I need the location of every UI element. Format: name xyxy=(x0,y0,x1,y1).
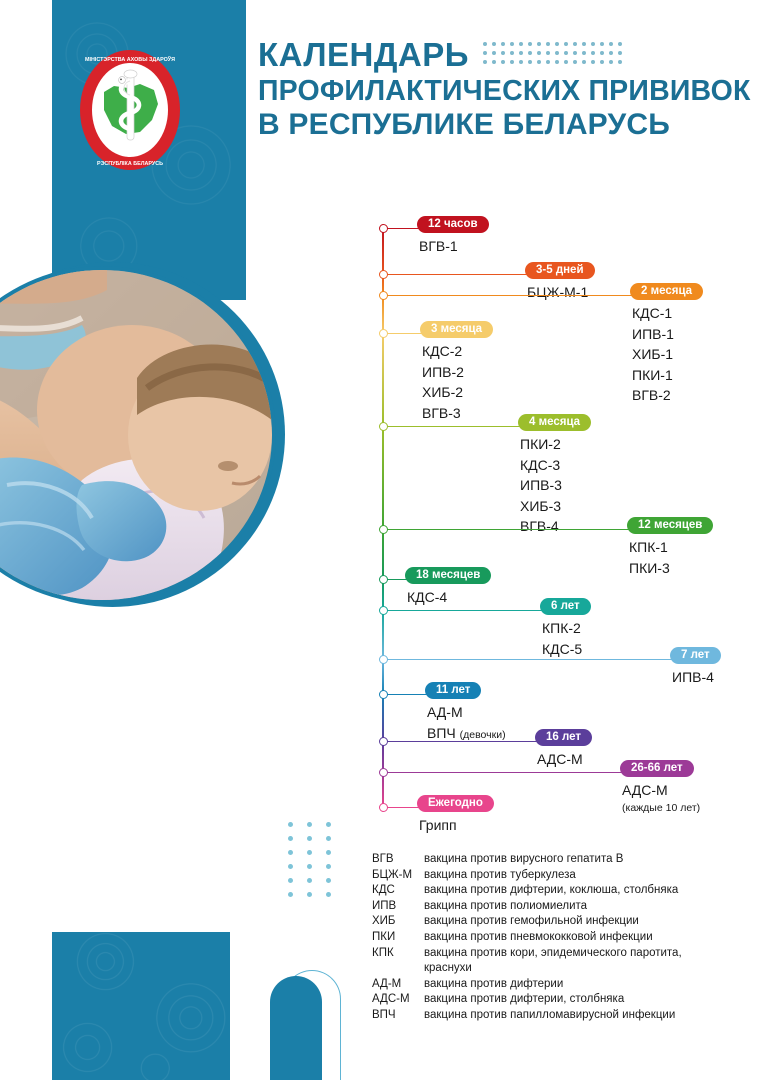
vaccine-item: ВГВ-2 xyxy=(632,385,674,406)
timeline-connector xyxy=(387,807,419,808)
timeline-node[interactable] xyxy=(379,803,388,812)
timeline-node[interactable] xyxy=(379,329,388,338)
age-badge[interactable]: Ежегодно xyxy=(417,795,494,812)
timeline-node[interactable] xyxy=(379,606,388,615)
vaccine-list: АДС-М(каждые 10 лет) xyxy=(622,780,700,815)
timeline-node[interactable] xyxy=(379,737,388,746)
vaccine-list: ПКИ-2КДС-3ИПВ-3ХИБ-3ВГВ-4 xyxy=(520,434,562,537)
vaccine-list: Грипп xyxy=(419,815,457,836)
age-badge[interactable]: 12 месяцев xyxy=(627,517,713,534)
age-badge[interactable]: 6 лет xyxy=(540,598,591,615)
timeline-spine-segment xyxy=(382,659,384,694)
age-badge[interactable]: 16 лет xyxy=(535,729,592,746)
timeline-node[interactable] xyxy=(379,575,388,584)
vaccine-item: ВГВ-1 xyxy=(419,236,458,257)
timeline-spine-segment xyxy=(382,295,384,333)
timeline-connector xyxy=(387,274,527,275)
timeline-spine-segment xyxy=(382,426,384,529)
vaccine-item: ВГВ-4 xyxy=(520,516,562,537)
vaccine-item: ИПВ-1 xyxy=(632,324,674,345)
age-badge[interactable]: 2 месяца xyxy=(630,283,703,300)
timeline-node[interactable] xyxy=(379,690,388,699)
vaccine-item: КДС-2 xyxy=(422,341,464,362)
vaccine-list: ИПВ-4 xyxy=(672,667,714,688)
vaccine-item: ИПВ-4 xyxy=(672,667,714,688)
timeline-spine-segment xyxy=(382,529,384,579)
timeline-spine-segment xyxy=(382,772,384,807)
timeline-node[interactable] xyxy=(379,291,388,300)
vaccine-item: КДС-3 xyxy=(520,455,562,476)
vaccine-item: ПКИ-1 xyxy=(632,365,674,386)
vaccine-item: АДС-М xyxy=(622,780,700,801)
vaccine-list: АДС-М xyxy=(537,749,583,770)
timeline-spine-segment xyxy=(382,333,384,426)
timeline-spine-segment xyxy=(382,694,384,741)
vaccine-item: ПКИ-3 xyxy=(629,558,670,579)
vaccine-item: ПКИ-2 xyxy=(520,434,562,455)
timeline-connector xyxy=(387,228,419,229)
age-badge[interactable]: 11 лет xyxy=(425,682,481,699)
age-badge[interactable]: 4 месяца xyxy=(518,414,591,431)
vaccine-list: КДС-2ИПВ-2ХИБ-2ВГВ-3 xyxy=(422,341,464,423)
timeline-connector xyxy=(387,529,629,530)
timeline-node[interactable] xyxy=(379,655,388,664)
vaccine-item: БЦЖ-М-1 xyxy=(527,282,588,303)
vaccine-list: БЦЖ-М-1 xyxy=(527,282,588,303)
vaccine-list: КПК-1ПКИ-3 xyxy=(629,537,670,578)
timeline-connector xyxy=(387,579,407,580)
age-badge[interactable]: 12 часов xyxy=(417,216,489,233)
timeline-node[interactable] xyxy=(379,224,388,233)
vaccine-list: ВГВ-1 xyxy=(419,236,458,257)
vaccine-item: АДС-М xyxy=(537,749,583,770)
age-badge[interactable]: 26-66 лет xyxy=(620,760,694,777)
vaccine-item: Грипп xyxy=(419,815,457,836)
vaccine-item: ИПВ-3 xyxy=(520,475,562,496)
vaccine-item: (каждые 10 лет) xyxy=(622,801,700,815)
vaccination-timeline: 12 часовВГВ-13-5 днейБЦЖ-М-12 месяцаКДС-… xyxy=(0,0,763,1080)
vaccine-item: КДС-5 xyxy=(542,639,582,660)
vaccine-list: КДС-4 xyxy=(407,587,447,608)
vaccine-item: КПК-1 xyxy=(629,537,670,558)
timeline-connector xyxy=(387,772,622,773)
timeline-connector xyxy=(387,333,422,334)
vaccine-list: АД-МВПЧ (девочки) xyxy=(427,702,506,745)
timeline-spine-segment xyxy=(382,610,384,659)
timeline-connector xyxy=(387,610,542,611)
timeline-connector xyxy=(387,295,632,296)
vaccine-item: ХИБ-1 xyxy=(632,344,674,365)
timeline-connector xyxy=(387,659,672,660)
age-badge[interactable]: 3-5 дней xyxy=(525,262,595,279)
vaccine-item: КДС-1 xyxy=(632,303,674,324)
age-badge[interactable]: 7 лет xyxy=(670,647,721,664)
timeline-connector xyxy=(387,741,537,742)
vaccine-item: КДС-4 xyxy=(407,587,447,608)
poster-page: МІНІСТЭРСТВА АХОВЫ ЗДАРОЎЯ РЭСПУБЛІКА БЕ… xyxy=(0,0,763,1080)
timeline-connector xyxy=(387,694,427,695)
vaccine-item: АД-М xyxy=(427,702,506,723)
timeline-node[interactable] xyxy=(379,525,388,534)
timeline-spine-segment xyxy=(382,228,384,274)
timeline-node[interactable] xyxy=(379,422,388,431)
vaccine-item: ХИБ-2 xyxy=(422,382,464,403)
timeline-node[interactable] xyxy=(379,768,388,777)
age-badge[interactable]: 3 месяца xyxy=(420,321,493,338)
age-badge[interactable]: 18 месяцев xyxy=(405,567,491,584)
vaccine-list: КПК-2КДС-5 xyxy=(542,618,582,659)
timeline-node[interactable] xyxy=(379,270,388,279)
timeline-connector xyxy=(387,426,520,427)
vaccine-item: КПК-2 xyxy=(542,618,582,639)
vaccine-list: КДС-1ИПВ-1ХИБ-1ПКИ-1ВГВ-2 xyxy=(632,303,674,406)
vaccine-item: ИПВ-2 xyxy=(422,362,464,383)
vaccine-item: ВГВ-3 xyxy=(422,403,464,424)
vaccine-item: ХИБ-3 xyxy=(520,496,562,517)
